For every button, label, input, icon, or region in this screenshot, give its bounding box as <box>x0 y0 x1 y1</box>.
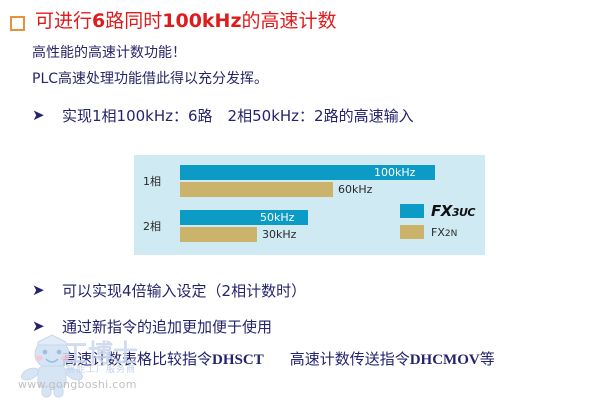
bullet-point-1: ➤ 实现1相100kHz：6路 2相50kHz：2路的高速输入 <box>32 106 414 126</box>
legend-swatch-gold-icon <box>400 225 424 239</box>
instruction-1-code: DHSCT <box>212 352 264 368</box>
chart-bar-label-1phase-fx3uc: 100kHz <box>374 165 415 180</box>
bullet-point-3-label: 通过新指令的追加更加便于使用 <box>62 317 272 337</box>
intro-line-2: PLC高速处理功能借此得以充分发挥。 <box>32 68 268 88</box>
chart-bar-label-1phase-fx2n: 60kHz <box>338 182 372 197</box>
chart-legend: FX3UC FX2N <box>400 203 475 245</box>
high-speed-counter-chart: 1相 100kHz 60kHz 2相 50kHz 30kHz FX3UC <box>134 155 485 255</box>
title-mid: 路同时 <box>105 10 162 32</box>
instruction-1-label: 高速计数表格比较指令 <box>62 350 212 368</box>
chart-plot-area: 1相 100kHz 60kHz 2相 50kHz 30kHz FX3UC <box>134 155 485 255</box>
instruction-2-tail: 等 <box>480 350 495 368</box>
legend-label-fx3uc: FX3UC <box>431 202 475 220</box>
page-title-text: 可进行6路同时100kHz的高速计数 <box>35 9 337 34</box>
legend-fx2n-sub: 2N <box>445 229 457 239</box>
legend-label-fx2n: FX2N <box>431 226 457 239</box>
legend-fx3uc-main: FX <box>431 202 452 220</box>
instruction-2-label: 高速计数传送指令 <box>290 350 410 368</box>
title-prefix: 可进行 <box>35 10 92 32</box>
chart-bar-label-2phase-fx2n: 30kHz <box>262 227 296 242</box>
title-bold-100khz: 100kHz <box>162 10 241 32</box>
slide-root: 可进行6路同时100kHz的高速计数 高性能的高速计数功能！ PLC高速处理功能… <box>0 0 615 405</box>
arrow-bullet-icon: ➤ <box>32 106 48 126</box>
title-suffix: 的高速计数 <box>242 10 337 32</box>
chart-bar-label-2phase-fx3uc: 50kHz <box>260 210 294 225</box>
chart-legend-item-fx2n: FX2N <box>400 224 475 240</box>
chart-bar-1phase-fx2n <box>180 182 333 197</box>
legend-fx3uc-sub: 3UC <box>452 206 475 219</box>
legend-fx2n-main: FX <box>431 226 445 239</box>
title-bold-6: 6 <box>92 10 105 32</box>
arrow-bullet-icon: ➤ <box>32 317 48 337</box>
watermark-url: www.gongboshi.com <box>18 378 137 391</box>
chart-category-label-1: 1相 <box>143 173 179 189</box>
bullet-point-1-label: 实现1相100kHz：6路 2相50kHz：2路的高速输入 <box>62 106 414 126</box>
instruction-list-line: 高速计数表格比较指令DHSCT高速计数传送指令DHCMOV等 <box>62 348 495 369</box>
bullet-point-3: ➤ 通过新指令的追加更加便于使用 <box>32 317 272 337</box>
square-bullet-icon <box>10 16 25 31</box>
legend-swatch-blue-icon <box>400 204 424 218</box>
instruction-2-code: DHCMOV <box>410 352 480 368</box>
chart-category-label-2: 2相 <box>143 218 179 234</box>
intro-line-1: 高性能的高速计数功能！ <box>32 42 186 62</box>
page-title: 可进行6路同时100kHz的高速计数 <box>10 9 337 34</box>
bullet-point-2-label: 可以实现4倍输入设定（2相计数时） <box>62 281 306 301</box>
bullet-point-2: ➤ 可以实现4倍输入设定（2相计数时） <box>32 281 306 301</box>
arrow-bullet-icon: ➤ <box>32 281 48 301</box>
chart-legend-item-fx3uc: FX3UC <box>400 203 475 219</box>
chart-bar-2phase-fx2n <box>180 227 257 242</box>
chart-group-1phase: 1相 100kHz 60kHz <box>134 165 485 201</box>
